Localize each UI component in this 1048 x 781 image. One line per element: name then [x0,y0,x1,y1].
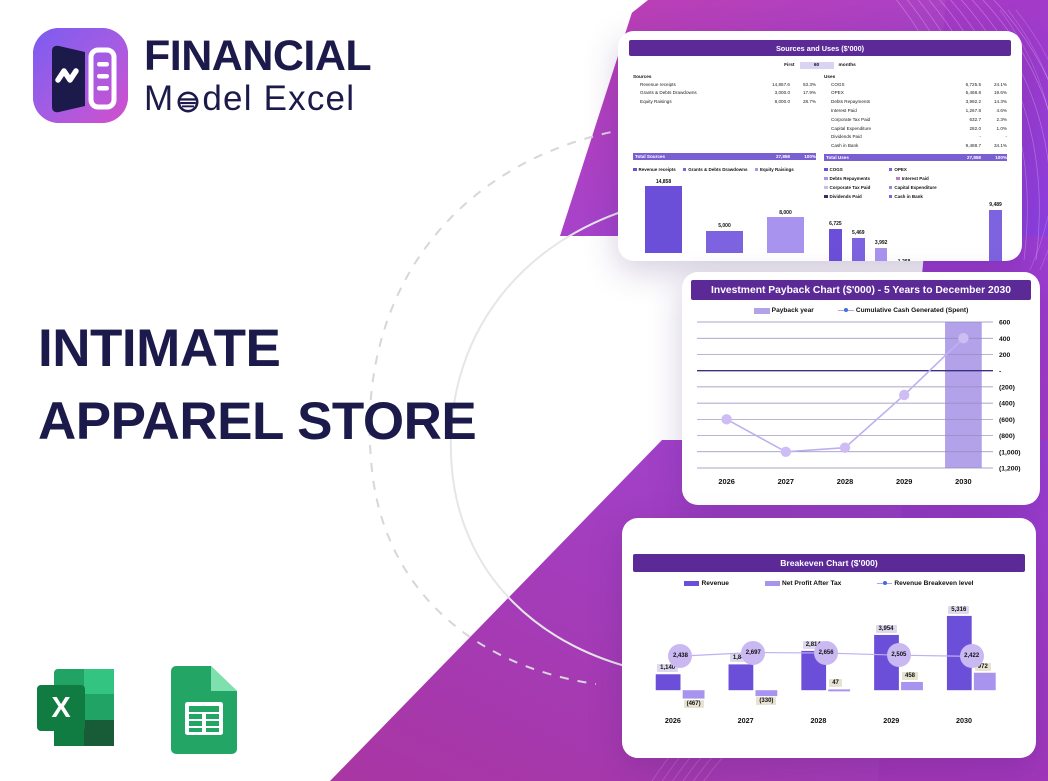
row-label: Cash in Bank [824,142,947,151]
row-pct: 28.7% [790,98,816,107]
first-months-input[interactable]: 60 [800,62,834,69]
breakeven-value-bubble: 2,505 [887,643,911,667]
page-title-line-2: APPAREL STORE [38,385,476,458]
bar: 8,000 [767,217,804,253]
total-uses-row: Total Uses 27,858 100% [824,154,1007,161]
sources-filler [633,107,816,150]
payback-svg: 600400200-(200)(400)(600)(800)(1,000)(1,… [691,318,1031,496]
legend-label: OPEX [894,167,907,172]
microsoft-excel-icon: X [28,660,123,760]
first-months-control: First 60 months [629,62,1011,69]
data-point [781,447,791,457]
row-label: Interest Paid [824,107,947,116]
legend-item: Payback year [754,307,814,314]
row-value: 8,000.0 [756,98,790,107]
row-value: 3,000.0 [756,89,790,98]
logo-line-1: FINANCIAL [144,35,371,78]
legend-label: Revenue [701,580,729,587]
net-profit-value-label: 458 [902,672,918,680]
row-value: 3,992.2 [947,98,981,107]
net-profit-bar [683,690,705,698]
x-axis-label: 2029 [867,716,915,725]
legend-item: Interest Paid [896,176,951,181]
row-value: 632.7 [947,116,981,125]
x-axis-label: 2027 [766,477,806,486]
row-label: Debts Repayments [824,98,947,107]
table-row: Grants & Debts Drawdowns 3,000.0 17.9% [633,89,816,98]
legend-label: Corporate Tax Paid [830,185,871,190]
total-label: Total Uses [824,155,947,160]
revenue-value-label: 3,954 [876,625,897,633]
data-point [840,443,850,453]
bar-value-label: 3,992 [875,240,888,246]
y-tick-label: (200) [999,384,1015,391]
bar: 5,469 [852,238,865,262]
bar: 5,000 [706,231,743,254]
table-row: Dividends Paid - - [824,133,1007,142]
y-tick-label: 600 [999,320,1011,327]
sources-chart-legend: Revenue receipts Grants & Debts Drawdown… [633,167,816,172]
page-title-line-1: INTIMATE [38,312,476,385]
data-point [958,333,968,343]
legend-item: Corporate Tax Paid [824,185,879,190]
legend-label: Net Profit After Tax [782,580,841,587]
table-row: Revenue receipts 14,857.6 53.3% [633,81,816,90]
row-pct: 53.3% [790,81,816,90]
row-label: OPEX [824,89,947,98]
legend-item: Debts Repayments [824,176,886,181]
row-value: 5,468.8 [947,89,981,98]
bar-value-label: 5,469 [852,230,865,236]
x-axis-label: 2030 [943,477,983,486]
legend-label: Revenue Breakeven level [894,580,973,587]
legend-item: Equity Raisings [755,167,794,172]
sources-chart-block: Revenue receipts Grants & Debts Drawdown… [629,167,820,261]
net-profit-bar [974,673,996,690]
legend-item: Cumulative Cash Generated (Spent) [838,307,968,314]
sources-header: Sources [633,74,816,79]
page-title: INTIMATE APPAREL STORE [38,312,476,458]
breakeven-legend: Revenue Net Profit After Tax Revenue Bre… [633,580,1025,587]
legend-item: Revenue receipts [633,167,676,172]
total-value: 27,858 [756,154,790,159]
breakeven-title: Breakeven Chart ($'000) [633,554,1025,572]
y-tick-label: (800) [999,433,1015,440]
bar: 14,858 [645,186,682,253]
legend-label: Capital Expenditure [894,185,936,190]
total-pct: 100% [790,154,816,159]
first-label: First [784,63,794,68]
legend-label: Cumulative Cash Generated (Spent) [856,307,968,314]
row-value: 9,488.7 [947,142,981,151]
x-axis-label: 2027 [722,716,770,725]
x-axis-label: 2026 [707,477,747,486]
cumulative-cash-line [727,338,964,452]
legend-label: Debts Repayments [830,176,871,181]
table-row: OPEX 5,468.8 19.6% [824,89,1007,98]
card-breakeven: Breakeven Chart ($'000) Revenue Net Prof… [622,518,1036,758]
total-value: 27,858 [947,155,981,160]
legend-label: Interest Paid [902,176,929,181]
revenue-bar [729,664,754,690]
logo-line-2: M del Excel [144,81,371,116]
revenue-value-label: 5,316 [948,606,969,614]
table-row: COGS 6,725.5 24.1% [824,81,1007,90]
row-pct: 17.9% [790,89,816,98]
row-pct: - [981,133,1007,142]
row-label: Equity Raisings [633,98,756,107]
logo-o-glyph-icon [175,86,201,112]
legend-item: Net Profit After Tax [765,580,841,587]
row-label: Dividends Paid [824,133,947,142]
legend-item: Cash in Bank [889,194,944,199]
row-pct: 1.0% [981,125,1007,134]
legend-item: COGS [824,167,879,172]
bar: 3,992 [875,248,888,261]
payback-title: Investment Payback Chart ($'000) - 5 Yea… [691,280,1031,300]
row-value: 282.0 [947,125,981,134]
card-sources-and-uses: Sources and Uses ($'000) First 60 months… [618,31,1022,261]
x-axis-label: 2030 [940,716,988,725]
brand-logo: FINANCIAL M del Excel [33,28,371,123]
row-pct: 19.6% [981,89,1007,98]
bar: 6,725 [829,229,842,261]
row-label: Corporate Tax Paid [824,116,947,125]
net-profit-bar [828,689,850,691]
data-point [721,414,731,424]
table-row: Capital Expenditure 282.0 1.0% [824,125,1007,134]
legend-label: Dividends Paid [830,194,862,199]
financial-model-excel-logo-icon [33,28,128,123]
bar-value-label: 8,000 [767,210,804,216]
legend-item: Revenue Breakeven level [877,580,973,587]
x-axis-label: 2029 [884,477,924,486]
total-label: Total Sources [633,154,756,159]
card-investment-payback: Investment Payback Chart ($'000) - 5 Yea… [682,272,1040,505]
legend-item: Revenue [684,580,729,587]
months-label: months [839,63,856,68]
revenue-bar [656,674,681,690]
sources-bar-chart: 14,8585,0008,000 [633,181,816,253]
legend-label: Cash in Bank [894,194,923,199]
breakeven-value-bubble: 2,656 [814,641,838,665]
legend-label: Equity Raisings [760,167,794,172]
y-tick-label: (600) [999,417,1015,424]
payback-legend: Payback year Cumulative Cash Generated (… [691,307,1031,314]
uses-chart-legend: COGS OPEX Debts Repayments Interest Paid… [824,167,1007,199]
net-profit-bar [755,690,777,696]
total-pct: 100% [981,155,1007,160]
table-row: Corporate Tax Paid 632.7 2.3% [824,116,1007,125]
row-pct: 24.1% [981,81,1007,90]
y-tick-label: (1,200) [999,466,1021,473]
total-sources-row: Total Sources 27,858 100% [633,153,816,160]
bar-value-label: 1,268 [898,259,911,261]
row-label: Grants & Debts Drawdowns [633,89,756,98]
legend-item: Capital Expenditure [889,185,951,190]
y-tick-label: (1,000) [999,449,1021,456]
breakeven-value-bubble: 2,697 [741,641,765,665]
legend-item: Grants & Debts Drawdowns [683,167,748,172]
row-pct: 14.3% [981,98,1007,107]
legend-label: Revenue receipts [639,167,676,172]
y-tick-label: 400 [999,336,1011,343]
legend-label: COGS [830,167,843,172]
row-value: 14,857.6 [756,81,790,90]
net-profit-value-label: (330) [756,697,776,705]
table-row: Equity Raisings 8,000.0 28.7% [633,98,816,107]
uses-bar-chart: 6,7255,4693,9921,26863328209,489 [824,203,1007,261]
net-profit-value-label: (467) [684,700,704,708]
y-tick-label: - [999,368,1001,375]
row-pct: 34.1% [981,142,1007,151]
row-value: - [947,133,981,142]
breakeven-value-bubble: 2,422 [960,644,984,668]
legend-label: Payback year [772,307,814,314]
row-pct: 4.6% [981,107,1007,116]
legend-item: OPEX [889,167,944,172]
payback-chart-plot: 600400200-(200)(400)(600)(800)(1,000)(1,… [691,318,1031,496]
bar: 9,489 [989,210,1002,261]
y-tick-label: 200 [999,352,1011,359]
bar-value-label: 6,725 [829,221,842,227]
y-tick-label: (400) [999,401,1015,408]
breakeven-chart-plot: 1,1401,8482,8143,9545,316(467)(330)47458… [633,591,1025,741]
logo-line-2-prefix: M [144,81,174,116]
data-point [899,390,909,400]
x-axis-label: 2028 [825,477,865,486]
row-label: COGS [824,81,947,90]
row-value: 6,725.5 [947,81,981,90]
row-pct: 2.3% [981,116,1007,125]
bar-value-label: 5,000 [706,223,743,229]
legend-item: Dividends Paid [824,194,879,199]
table-row: Debts Repayments 3,992.2 14.3% [824,98,1007,107]
logo-line-2-suffix: del Excel [202,81,355,116]
uses-column: Uses COGS 6,725.5 24.1% OPEX 5,468.8 19.… [820,74,1011,161]
sources-uses-table: Sources Revenue receipts 14,857.6 53.3% … [629,74,1011,161]
sources-column: Sources Revenue receipts 14,857.6 53.3% … [629,74,820,161]
uses-chart-block: COGS OPEX Debts Repayments Interest Paid… [820,167,1011,261]
app-format-icons: X [28,660,246,760]
payback-year-band [945,322,982,468]
net-profit-bar [901,682,923,690]
row-label: Revenue receipts [633,81,756,90]
uses-header: Uses [824,74,1007,79]
net-profit-value-label: 47 [829,679,842,687]
x-axis-label: 2028 [794,716,842,725]
row-label: Capital Expenditure [824,125,947,134]
bar-value-label: 9,489 [989,202,1002,208]
svg-text:X: X [51,692,71,724]
bar-value-label: 14,858 [645,179,682,185]
row-value: 1,267.8 [947,107,981,116]
x-axis-label: 2026 [649,716,697,725]
sources-uses-title: Sources and Uses ($'000) [629,40,1011,56]
google-sheets-icon [161,660,246,760]
table-row: Interest Paid 1,267.8 4.6% [824,107,1007,116]
table-row: Cash in Bank 9,488.7 34.1% [824,142,1007,151]
legend-label: Grants & Debts Drawdowns [688,167,747,172]
